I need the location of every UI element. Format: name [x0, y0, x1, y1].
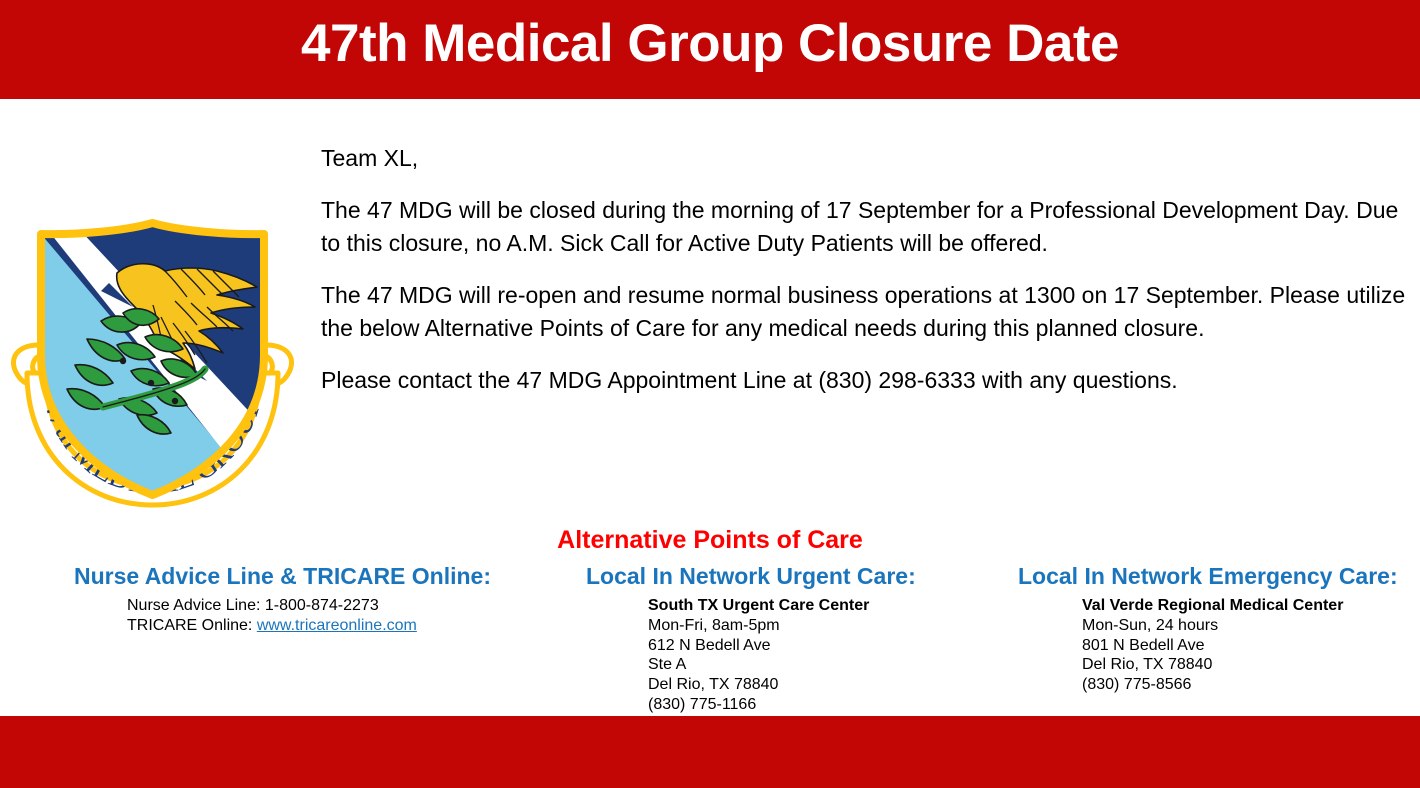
urgent-care-suite: Ste A: [648, 655, 968, 675]
alternative-points-of-care-label: Alternative Points of Care: [557, 526, 863, 555]
column-urgent-care: Local In Network Urgent Care: South TX U…: [548, 562, 968, 715]
paragraph-closure: The 47 MDG will be closed during the mor…: [321, 194, 1411, 261]
column-emergency-care: Local In Network Emergency Care: Val Ver…: [980, 562, 1420, 695]
announcement-body: Team XL, The 47 MDG will be closed durin…: [321, 142, 1411, 397]
column-heading-urgent-care: Local In Network Urgent Care:: [548, 562, 968, 590]
urgent-care-facility-name: South TX Urgent Care Center: [648, 596, 968, 616]
top-red-banner: 47th Medical Group Closure Date: [0, 0, 1420, 99]
emergency-care-street: 801 N Bedell Ave: [1082, 636, 1420, 656]
tricare-online-link[interactable]: www.tricareonline.com: [257, 617, 417, 634]
urgent-care-hours: Mon-Fri, 8am-5pm: [648, 616, 968, 636]
bottom-red-bar: [0, 716, 1420, 788]
column-heading-emergency-care: Local In Network Emergency Care:: [980, 562, 1420, 590]
paragraph-contact: Please contact the 47 MDG Appointment Li…: [321, 364, 1411, 398]
column-heading-nurse: Nurse Advice Line & TRICARE Online:: [20, 562, 545, 590]
nurse-advice-line-phone: Nurse Advice Line: 1-800-874-2273: [127, 596, 545, 616]
column-body-nurse: Nurse Advice Line: 1-800-874-2273 TRICAR…: [20, 596, 545, 636]
emergency-care-facility-name: Val Verde Regional Medical Center: [1082, 596, 1420, 616]
paragraph-reopen: The 47 MDG will re-open and resume norma…: [321, 279, 1411, 346]
salutation: Team XL,: [321, 142, 1411, 176]
column-body-urgent-care: South TX Urgent Care Center Mon-Fri, 8am…: [548, 596, 968, 715]
urgent-care-street: 612 N Bedell Ave: [648, 636, 968, 656]
47th-medical-group-emblem: 47th MEDICAL GROUP: [5, 205, 300, 510]
tricare-online-row: TRICARE Online: www.tricareonline.com: [127, 616, 545, 636]
tricare-online-label: TRICARE Online:: [127, 617, 257, 634]
column-nurse-advice-line: Nurse Advice Line & TRICARE Online: Nurs…: [20, 562, 545, 636]
page-title: 47th Medical Group Closure Date: [0, 8, 1420, 80]
emergency-care-hours: Mon-Sun, 24 hours: [1082, 616, 1420, 636]
contact-columns: Nurse Advice Line & TRICARE Online: Nurs…: [0, 562, 1420, 717]
alternative-points-of-care-heading: Alternative Points of Care: [0, 526, 1420, 555]
urgent-care-phone: (830) 775-1166: [648, 695, 968, 715]
emergency-care-city: Del Rio, TX 78840: [1082, 655, 1420, 675]
column-body-emergency-care: Val Verde Regional Medical Center Mon-Su…: [980, 596, 1420, 695]
emergency-care-phone: (830) 775-8566: [1082, 675, 1420, 695]
urgent-care-city: Del Rio, TX 78840: [648, 675, 968, 695]
